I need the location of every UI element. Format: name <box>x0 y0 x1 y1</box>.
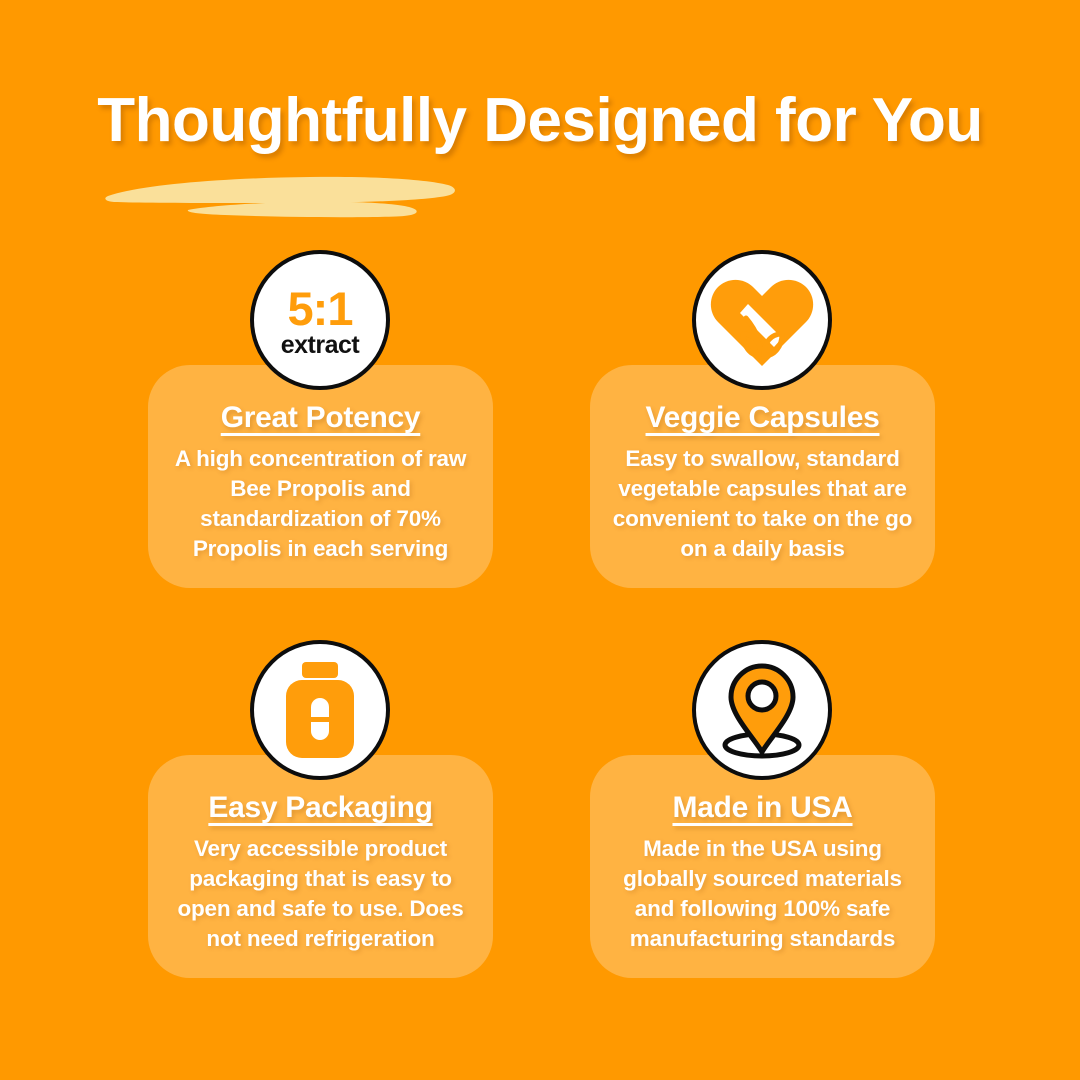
feature-title: Veggie Capsules <box>604 401 921 435</box>
page-title: Thoughtfully Designed for You <box>0 88 1080 153</box>
supplement-bottle-icon <box>250 640 390 780</box>
feature-card-easy-packaging: Easy Packaging Very accessible product p… <box>148 755 493 978</box>
feature-card-great-potency: Great Potency A high concentration of ra… <box>148 365 493 588</box>
heart-capsule-leaf-icon <box>692 250 832 390</box>
feature-card-made-in-usa: Made in USA Made in the USA using global… <box>590 755 935 978</box>
map-pin-glyph <box>710 660 814 760</box>
extract-ratio-label: extract <box>281 333 360 358</box>
supplement-bottle-glyph <box>278 660 362 760</box>
heart-capsule-leaf-glyph <box>710 270 814 370</box>
feature-title: Easy Packaging <box>162 791 479 825</box>
feature-description: Very accessible product packaging that i… <box>162 834 479 955</box>
ratio-5-to-1-extract-icon: 5:1 extract <box>250 250 390 390</box>
brush-stroke-underline-icon <box>100 163 480 221</box>
infographic-page: Thoughtfully Designed for You Great Pote… <box>0 0 1080 1080</box>
feature-description: Easy to swallow, standard vegetable caps… <box>604 444 921 565</box>
feature-title: Made in USA <box>604 791 921 825</box>
map-pin-location-icon <box>692 640 832 780</box>
feature-title: Great Potency <box>162 401 479 435</box>
feature-description: A high concentration of raw Bee Propolis… <box>162 444 479 565</box>
header: Thoughtfully Designed for You <box>0 88 1080 153</box>
feature-description: Made in the USA using globally sourced m… <box>604 834 921 955</box>
extract-ratio-value: 5:1 <box>288 285 353 332</box>
feature-card-veggie-capsules: Veggie Capsules Easy to swallow, standar… <box>590 365 935 588</box>
